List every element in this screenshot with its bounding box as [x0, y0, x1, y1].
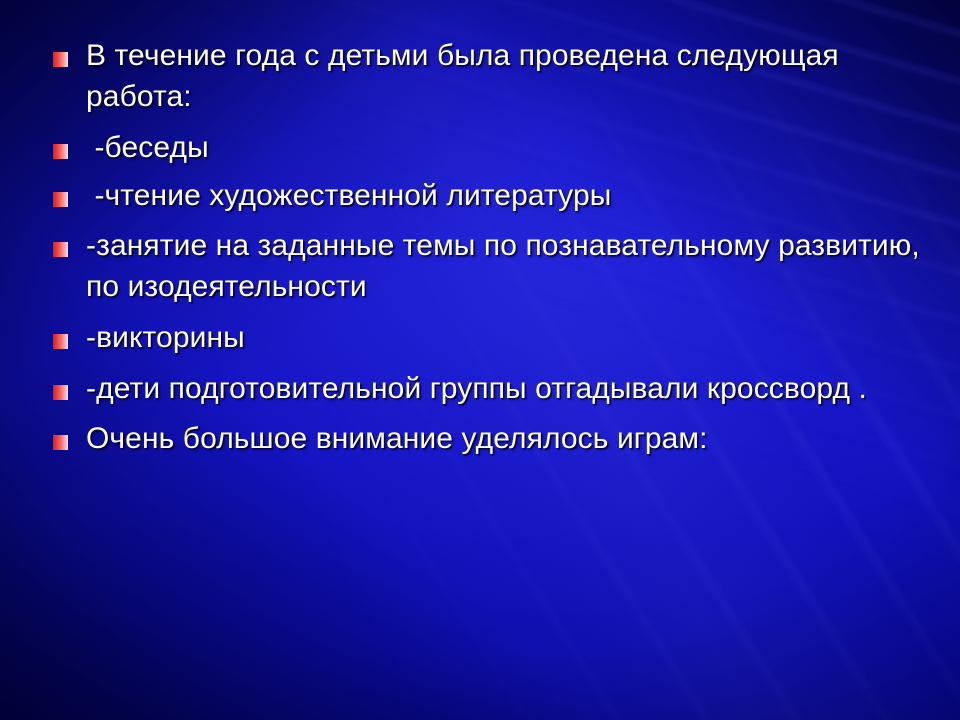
bullet-text: -викторины — [86, 318, 928, 359]
list-item: -занятие на заданные темы по познаватель… — [48, 226, 928, 308]
list-item: -викторины — [48, 318, 928, 359]
list-item: -чтение художественной литературы — [48, 176, 928, 217]
bullet-list: В течение года с детьми была проведена с… — [48, 36, 928, 460]
presentation-slide: В течение года с детьми была проведена с… — [0, 0, 960, 720]
slide-content: В течение года с детьми была проведена с… — [0, 0, 960, 720]
list-item: -дети подготовительной группы отгадывали… — [48, 369, 928, 410]
bullet-text: -чтение художественной литературы — [86, 176, 928, 217]
bullet-text: Очень большое внимание уделялось играм: — [86, 419, 928, 460]
bullet-text: -беседы — [86, 128, 928, 169]
list-item: В течение года с детьми была проведена с… — [48, 36, 928, 118]
bullet-text: В течение года с детьми была проведена с… — [86, 36, 928, 118]
red-square-bullet-icon — [53, 144, 68, 159]
list-item: -беседы — [48, 128, 928, 169]
red-square-bullet-icon — [53, 192, 68, 207]
bullet-text: -занятие на заданные темы по познаватель… — [86, 226, 928, 308]
red-square-bullet-icon — [53, 52, 68, 67]
red-square-bullet-icon — [53, 435, 68, 450]
red-square-bullet-icon — [53, 242, 68, 257]
bullet-text: -дети подготовительной группы отгадывали… — [86, 369, 928, 410]
list-item: Очень большое внимание уделялось играм: — [48, 419, 928, 460]
red-square-bullet-icon — [53, 334, 68, 349]
red-square-bullet-icon — [53, 385, 68, 400]
